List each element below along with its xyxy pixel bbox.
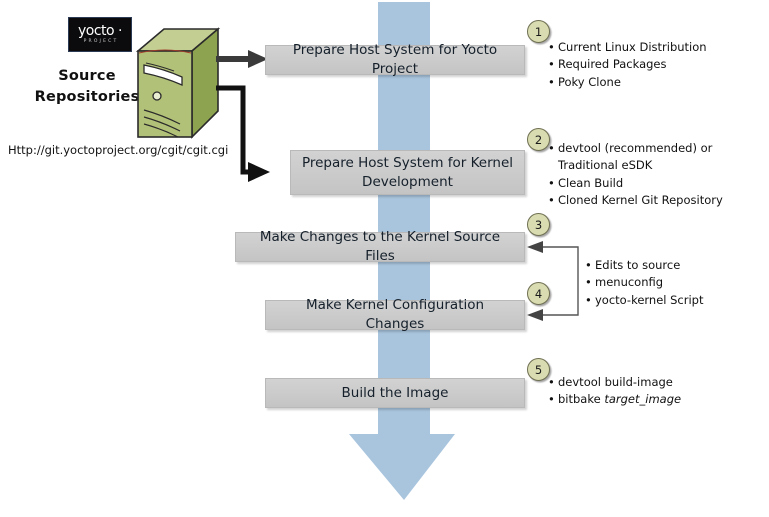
step-5-bullet-2-italic: target_image (604, 392, 681, 406)
yocto-logo-wordmark: yocto · (78, 24, 122, 38)
step-2-number: 2 (535, 133, 542, 147)
step-5-bullet-2-plain: bitbake (558, 392, 604, 406)
step-2-box[interactable]: Prepare Host System for Kernel Developme… (290, 150, 525, 195)
list-item: • Cloned Kernel Git Repository (548, 192, 753, 209)
yocto-logo-subtext: PROJECT (84, 40, 119, 45)
step-5-bullet-1: devtool build-image (558, 374, 748, 391)
step-4-box[interactable]: Make Kernel Configuration Changes (265, 300, 525, 330)
bullet-dot-icon: • (548, 374, 558, 391)
step-1-number: 1 (535, 25, 542, 39)
step-1-bullet-2: Required Packages (558, 56, 748, 73)
bullet-dot-icon: • (585, 292, 595, 309)
step-1-bullet-1: Current Linux Distribution (558, 39, 748, 56)
step-4-badge: 4 (527, 282, 550, 305)
step-1-box[interactable]: Prepare Host System for Yocto Project (265, 45, 525, 75)
step-2-bullet-2: Clean Build (558, 175, 753, 192)
step-4-number: 4 (535, 287, 542, 301)
source-repositories-label: Source Repositories (28, 66, 146, 108)
workflow-diagram: yocto · PROJECT Source Repositories Http… (0, 0, 769, 517)
step-2-bullets: • devtool (recommended) or Traditional e… (548, 140, 753, 210)
list-item: • yocto-kernel Script (585, 292, 760, 309)
step-5-label: Build the Image (342, 384, 449, 403)
list-item: • Poky Clone (548, 74, 748, 91)
steps-3-4-bullet-1: Edits to source (595, 257, 760, 274)
step-3-box[interactable]: Make Changes to the Kernel Source Files (235, 232, 525, 262)
step-1-badge: 1 (527, 20, 550, 43)
steps-3-4-bullet-3: yocto-kernel Script (595, 292, 760, 309)
bullet-dot-icon: • (548, 56, 558, 73)
step-5-number: 5 (535, 363, 542, 377)
step-2-label: Prepare Host System for Kernel Developme… (301, 154, 514, 192)
bullet-dot-icon: • (585, 257, 595, 274)
list-item: • devtool build-image (548, 374, 748, 391)
step-5-box[interactable]: Build the Image (265, 378, 525, 408)
step-3-label: Make Changes to the Kernel Source Files (246, 228, 514, 266)
yocto-project-logo: yocto · PROJECT (68, 17, 132, 52)
step-1-bullets: • Current Linux Distribution • Required … (548, 39, 748, 91)
step-1-bullet-3: Poky Clone (558, 74, 748, 91)
bullet-dot-icon: • (548, 391, 558, 408)
list-item: • Required Packages (548, 56, 748, 73)
list-item: • bitbake target_image (548, 391, 748, 408)
list-item: • Current Linux Distribution (548, 39, 748, 56)
step-5-bullets: • devtool build-image • bitbake target_i… (548, 374, 748, 409)
step-2-badge: 2 (527, 128, 550, 151)
step-5-badge: 5 (527, 358, 550, 381)
step-2-bullet-3: Cloned Kernel Git Repository (558, 192, 753, 209)
step-3-number: 3 (535, 218, 542, 232)
step-4-label: Make Kernel Configuration Changes (276, 296, 514, 334)
list-item: • menuconfig (585, 274, 760, 291)
bullet-dot-icon: • (548, 74, 558, 91)
list-item: • Clean Build (548, 175, 753, 192)
source-label-line-2: Repositories (28, 87, 146, 108)
bullet-dot-icon: • (585, 274, 595, 291)
list-item: • Edits to source (585, 257, 760, 274)
steps-3-4-bullet-2: menuconfig (595, 274, 760, 291)
steps-3-4-bullets: • Edits to source • menuconfig • yocto-k… (585, 257, 760, 309)
source-repository-url: Http://git.yoctoproject.org/cgit/cgit.cg… (8, 143, 228, 157)
step-3-badge: 3 (527, 213, 550, 236)
source-label-line-1: Source (28, 66, 146, 87)
server-tower-icon (134, 25, 222, 141)
step-5-bullet-2: bitbake target_image (558, 391, 748, 408)
step-2-bullet-1: devtool (recommended) or Traditional eSD… (558, 140, 753, 175)
bullet-dot-icon: • (548, 175, 558, 192)
step-1-label: Prepare Host System for Yocto Project (276, 41, 514, 79)
bullet-dot-icon: • (548, 192, 558, 209)
bullet-dot-icon: • (548, 140, 558, 157)
list-item: • devtool (recommended) or Traditional e… (548, 140, 753, 175)
bullet-dot-icon: • (548, 39, 558, 56)
